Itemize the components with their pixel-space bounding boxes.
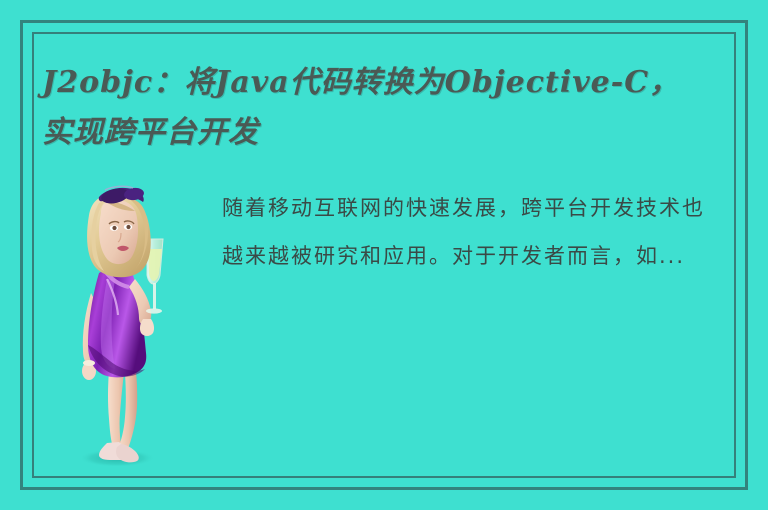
article-excerpt: 随着移动互联网的快速发展，跨平台开发技术也越来越被研究和应用。对于开发者而言，如… [222, 184, 722, 280]
article-title-text: J2objc：将Java代码转换为Objective-C，实现跨平台开发 [42, 65, 680, 150]
article-thumbnail-card: J2objc：将Java代码转换为Objective-C，实现跨平台开发 [0, 0, 768, 510]
figure-right-hand [140, 319, 154, 336]
figure-pupil-left [112, 226, 116, 230]
article-excerpt-text: 随着移动互联网的快速发展，跨平台开发技术也越来越被研究和应用。对于开发者而言，如… [222, 196, 705, 268]
champagne-flute-base [146, 308, 162, 313]
illustration-cartoon-woman [55, 175, 185, 475]
article-title: J2objc：将Java代码转换为Objective-C，实现跨平台开发 [42, 58, 682, 158]
champagne-flute-stem [153, 283, 156, 309]
figure-bracelet [83, 360, 95, 366]
cartoon-woman-icon [55, 175, 185, 475]
figure-pupil-right [126, 225, 130, 229]
